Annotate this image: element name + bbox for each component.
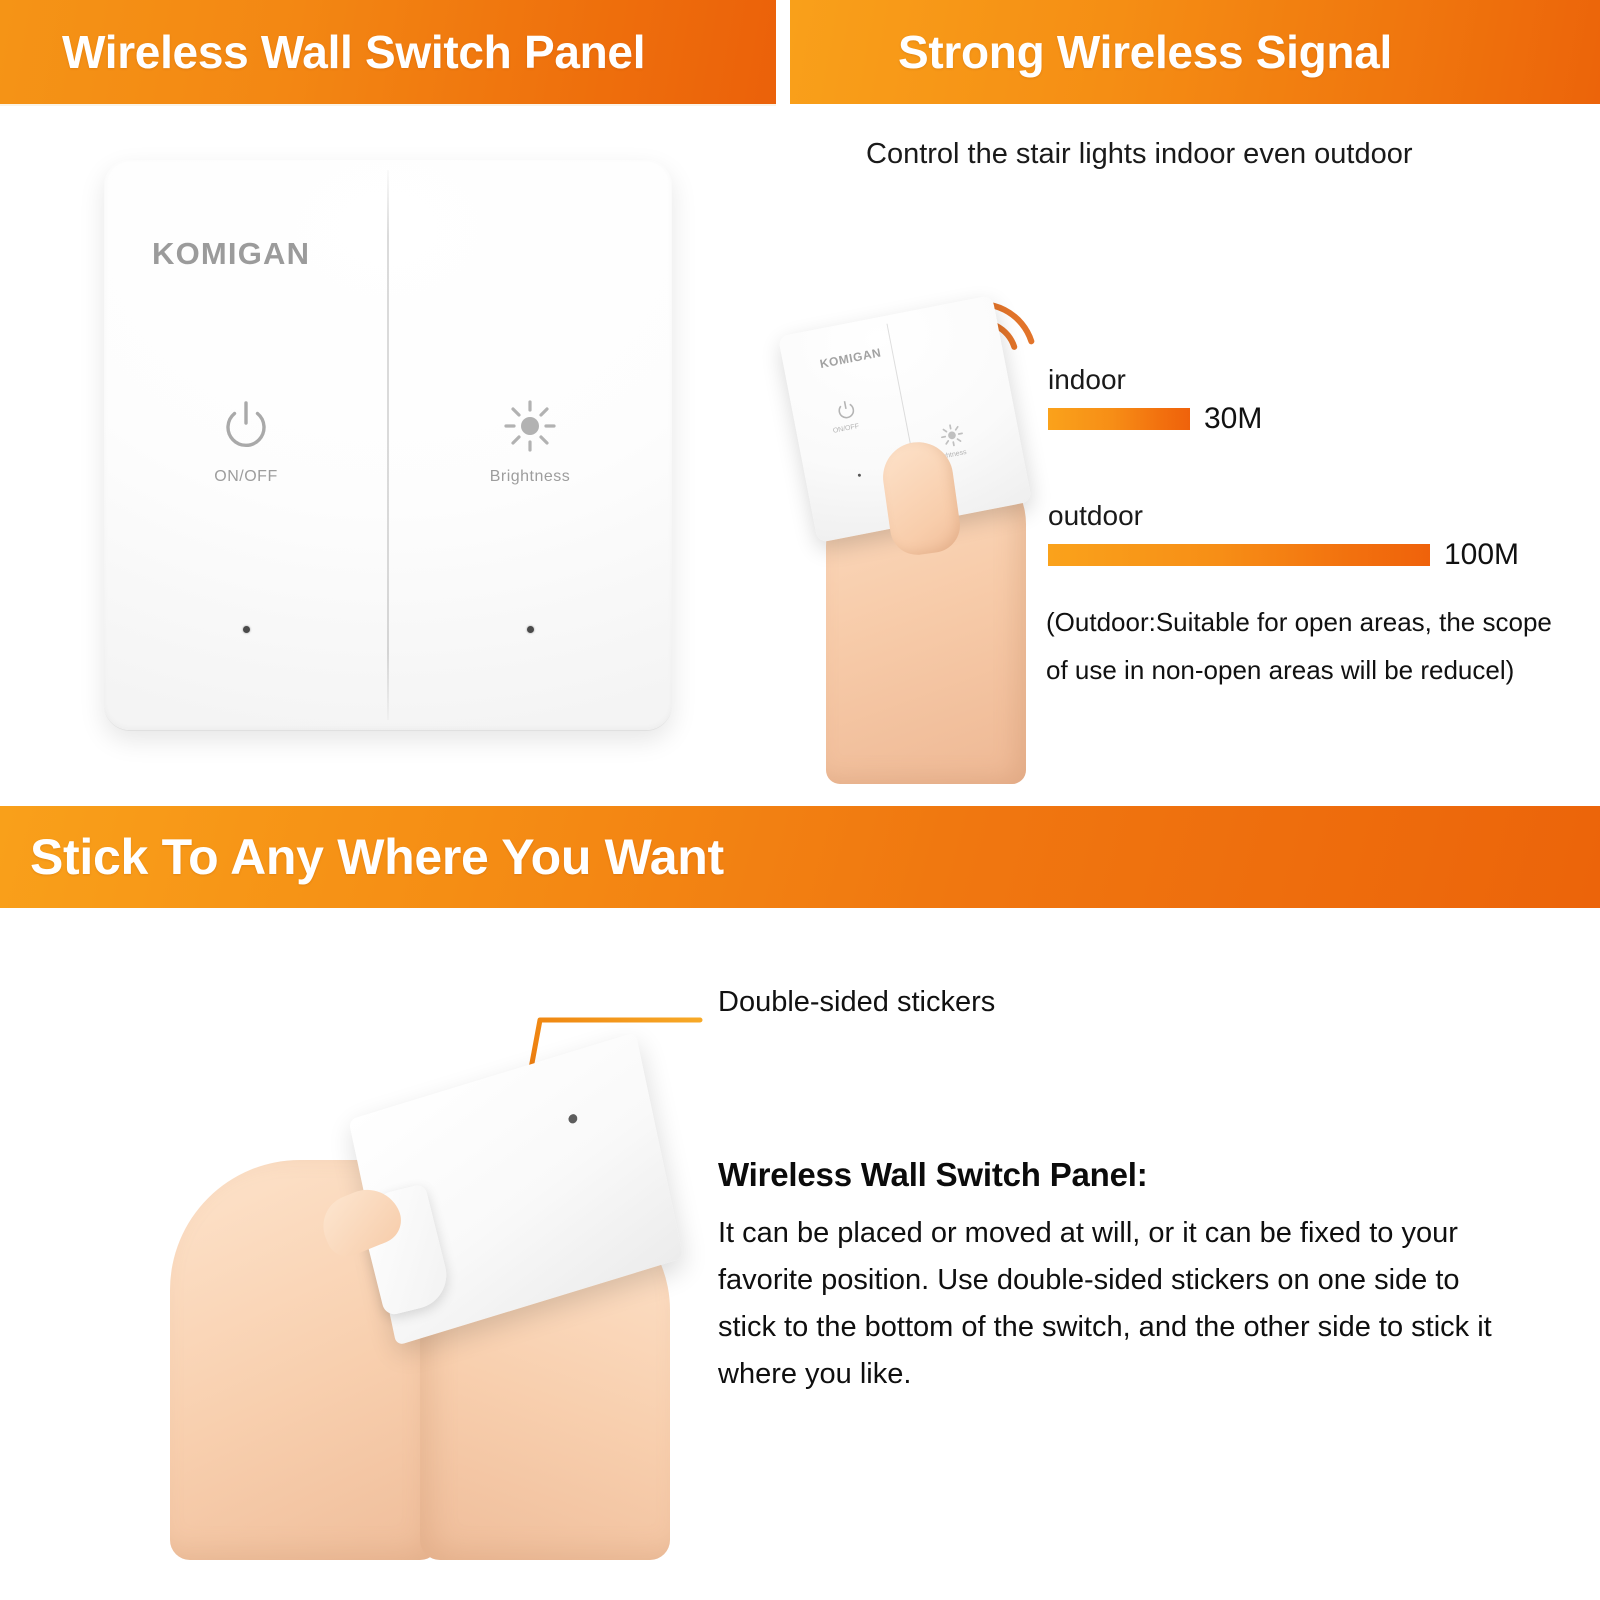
product-switch-panel-photo: KOMIGAN ON/OFF xyxy=(104,160,672,730)
hands-peeling-sticker-photo xyxy=(170,1040,690,1560)
led-indicator-left xyxy=(243,626,250,633)
signal-range-bar-indoor: indoor 30M xyxy=(1048,364,1262,436)
banner-wireless-wall-switch-panel: Wireless Wall Switch Panel xyxy=(0,0,776,104)
bar-value-outdoor: 100M xyxy=(1444,538,1519,572)
bar-fill-outdoor xyxy=(1048,544,1430,566)
mini-led-left xyxy=(858,473,862,477)
panel-back-screw-dot xyxy=(568,1113,578,1124)
double-sided-stickers-label: Double-sided stickers xyxy=(718,986,995,1019)
banner-right-title: Strong Wireless Signal xyxy=(898,25,1392,79)
switch-half-onoff[interactable]: ON/OFF xyxy=(104,160,388,730)
stick-paragraph: It can be placed or moved at will, or it… xyxy=(718,1210,1508,1398)
banner-strong-wireless-signal: Strong Wireless Signal xyxy=(790,0,1600,104)
bar-label-indoor: indoor xyxy=(1048,364,1262,396)
brightness-sun-icon xyxy=(500,396,560,456)
bar-fill-indoor xyxy=(1048,408,1190,430)
mini-brand-logo-text: KOMIGAN xyxy=(819,345,883,371)
banner-left-title: Wireless Wall Switch Panel xyxy=(62,25,645,79)
stick-description-block: Wireless Wall Switch Panel: It can be pl… xyxy=(718,1156,1508,1398)
stick-heading: Wireless Wall Switch Panel: xyxy=(718,1156,1508,1194)
signal-lead-text: Control the stair lights indoor even out… xyxy=(866,132,1426,177)
banner-stick-to-any-where: Stick To Any Where You Want xyxy=(0,806,1600,908)
bar-label-outdoor: outdoor xyxy=(1048,500,1519,532)
banner-left-underline xyxy=(0,104,776,106)
onoff-key-label: ON/OFF xyxy=(214,468,277,486)
signal-description-block: Control the stair lights indoor even out… xyxy=(866,132,1566,177)
bar-value-indoor: 30M xyxy=(1204,402,1262,436)
mini-onoff-label: ON/OFF xyxy=(832,423,859,435)
brightness-key-label: Brightness xyxy=(490,468,571,486)
switch-half-brightness[interactable]: Brightness xyxy=(388,160,672,730)
banner-stick-title: Stick To Any Where You Want xyxy=(30,828,724,886)
led-indicator-right xyxy=(527,626,534,633)
signal-range-bar-outdoor: outdoor 100M xyxy=(1048,500,1519,572)
power-icon xyxy=(216,396,276,456)
outdoor-range-note: (Outdoor:Suitable for open areas, the sc… xyxy=(1046,598,1576,694)
